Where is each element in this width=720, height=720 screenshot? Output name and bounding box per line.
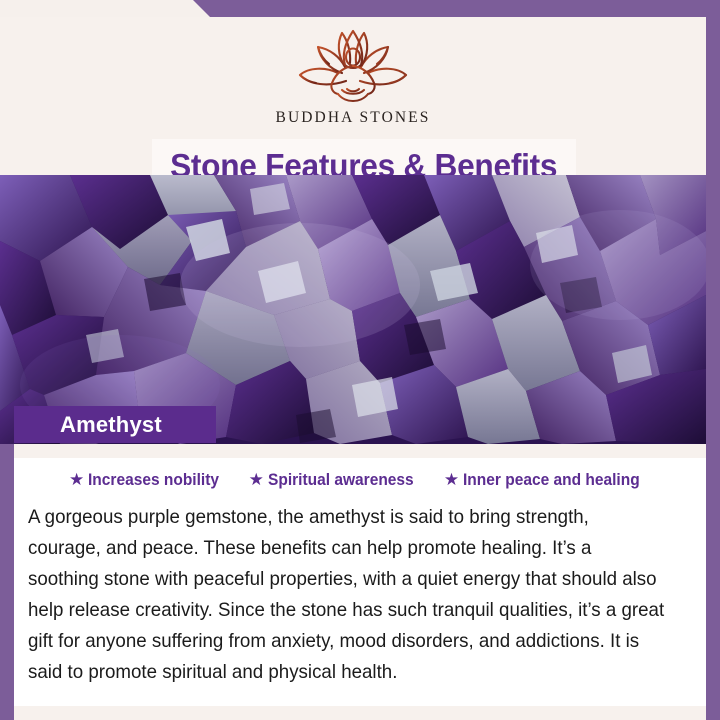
- benefit-item: ★ Spiritual awareness: [249, 471, 423, 490]
- stone-description: A gorgeous purple gemstone, the amethyst…: [28, 502, 665, 688]
- benefit-label: Spiritual awareness: [268, 471, 414, 490]
- benefit-label: Increases nobility: [88, 471, 219, 490]
- brand-logo: BUDDHA STONES: [0, 27, 706, 127]
- decorative-right-border: [706, 0, 720, 720]
- header: BUDDHA STONES Stone Features & Benefits: [0, 17, 706, 175]
- decorative-left-border: [0, 444, 14, 720]
- star-icon: ★: [444, 471, 459, 488]
- decorative-top-band: [0, 0, 720, 17]
- stone-name-label: Amethyst: [14, 406, 216, 443]
- amethyst-crystal-cluster-illustration: [0, 175, 706, 444]
- amethyst-photo: [0, 175, 706, 444]
- content-panel: ★ Increases nobility ★ Spiritual awarene…: [14, 444, 706, 720]
- star-icon: ★: [69, 471, 84, 488]
- content-inner: ★ Increases nobility ★ Spiritual awarene…: [14, 458, 706, 706]
- stone-name-text: Amethyst: [14, 412, 162, 438]
- brand-name: BUDDHA STONES: [276, 109, 431, 127]
- infographic-page: BUDDHA STONES Stone Features & Benefits: [0, 0, 720, 720]
- benefit-item: ★ Increases nobility: [69, 471, 228, 490]
- benefit-label: Inner peace and healing: [463, 471, 640, 490]
- benefit-item: ★ Inner peace and healing: [444, 471, 651, 490]
- lotus-meditation-icon: [280, 27, 426, 105]
- star-icon: ★: [249, 471, 264, 488]
- benefits-row: ★ Increases nobility ★ Spiritual awarene…: [14, 471, 706, 490]
